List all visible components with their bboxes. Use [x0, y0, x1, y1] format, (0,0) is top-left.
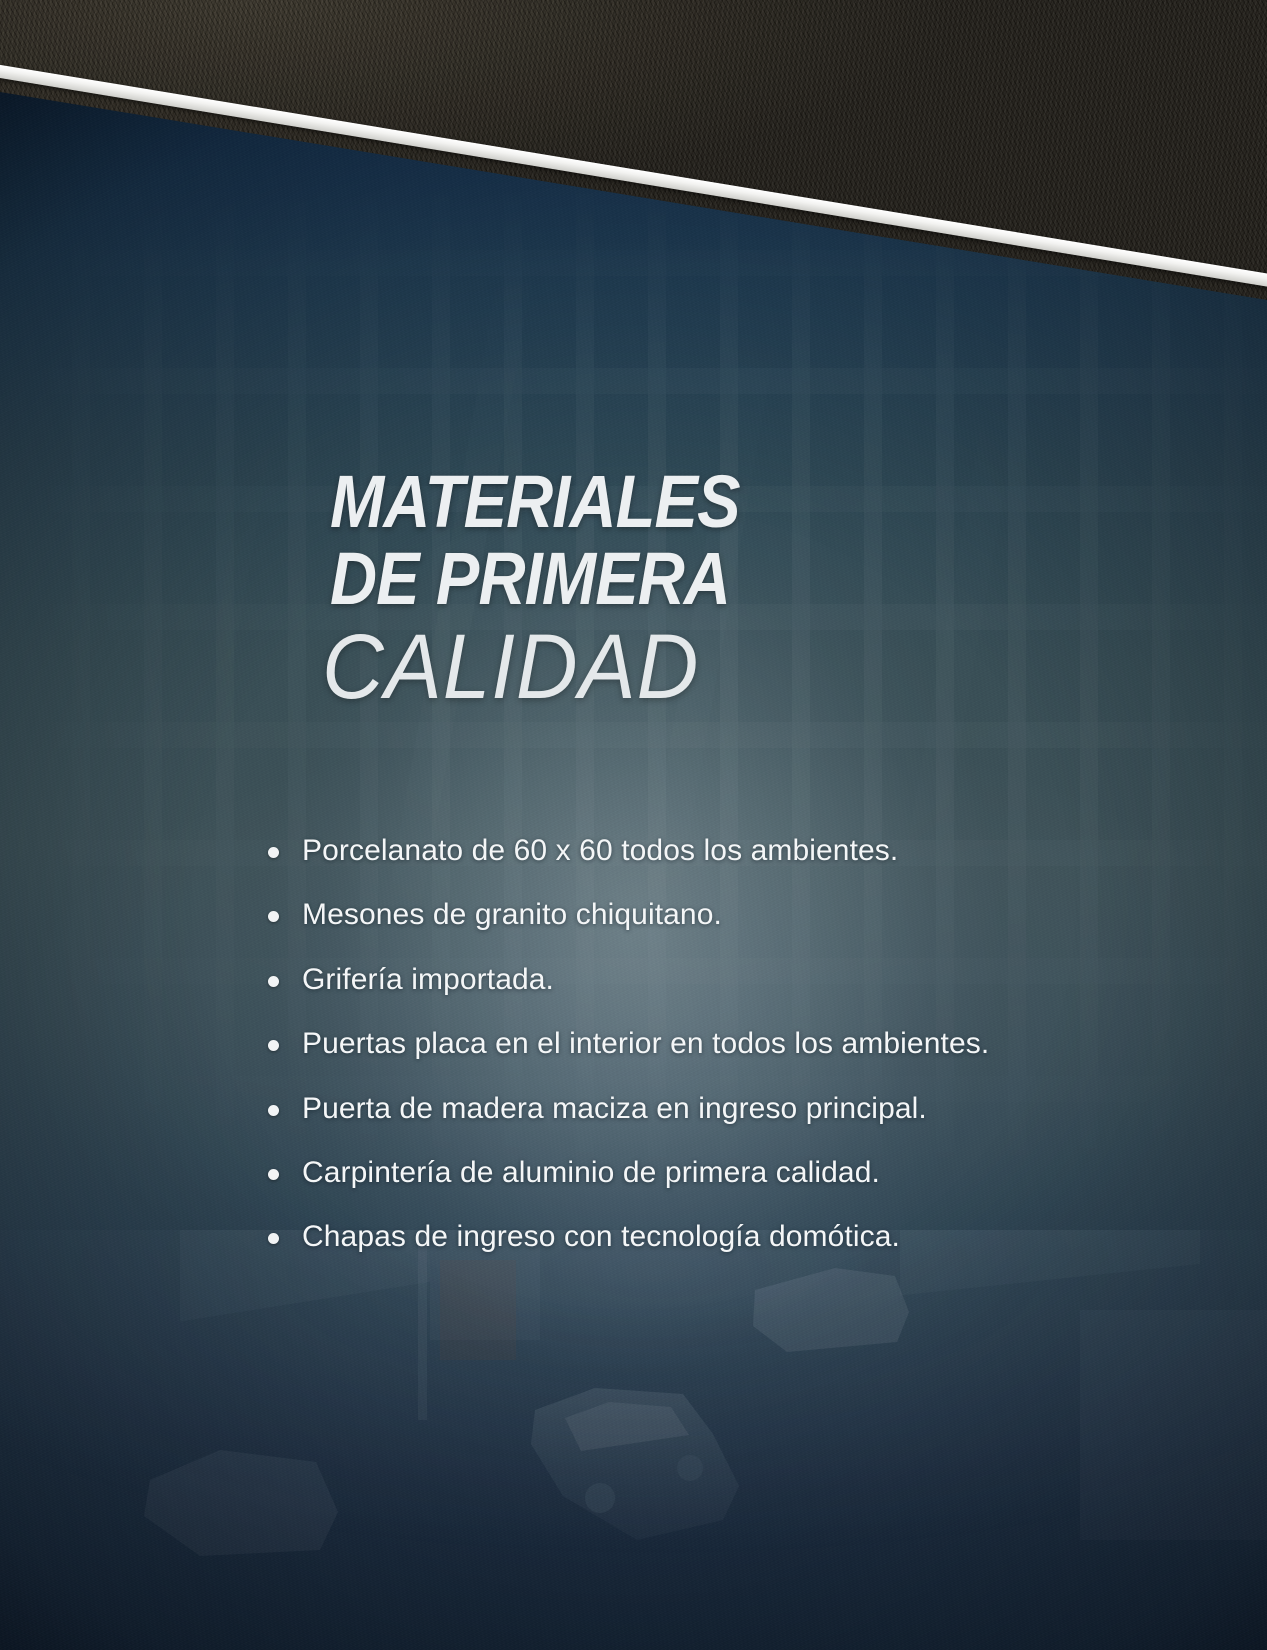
list-item-label: Chapas de ingreso con tecnología domótic…	[302, 1218, 900, 1256]
bullet-dot-icon	[268, 976, 279, 987]
list-item-label: Carpintería de aluminio de primera calid…	[302, 1154, 880, 1192]
list-item: Chapas de ingreso con tecnología domótic…	[268, 1218, 1168, 1256]
bullet-dot-icon	[268, 1105, 279, 1116]
list-item-label: Puerta de madera maciza en ingreso princ…	[302, 1090, 927, 1128]
list-item: Grifería importada.	[268, 961, 1168, 999]
list-item: Mesones de granito chiquitano.	[268, 896, 1168, 934]
bullet-dot-icon	[268, 1040, 279, 1051]
title-line-2: DE PRIMERA	[330, 543, 999, 616]
list-item: Puertas placa en el interior en todos lo…	[268, 1025, 1168, 1063]
bullet-dot-icon	[268, 1233, 279, 1244]
list-item: Carpintería de aluminio de primera calid…	[268, 1154, 1168, 1192]
features-list: Porcelanato de 60 x 60 todos los ambient…	[268, 832, 1168, 1283]
bullet-dot-icon	[268, 1169, 279, 1180]
bullet-dot-icon	[268, 847, 279, 858]
page-title: MATERIALES DE PRIMERA CALIDAD	[330, 466, 1090, 713]
slide-content: MATERIALES DE PRIMERA CALIDAD Porcelanat…	[0, 0, 1267, 1650]
list-item-label: Porcelanato de 60 x 60 todos los ambient…	[302, 832, 898, 870]
bullet-dot-icon	[268, 911, 279, 922]
list-item: Puerta de madera maciza en ingreso princ…	[268, 1090, 1168, 1128]
title-line-1: MATERIALES	[330, 466, 999, 539]
slide-stage: MATERIALES DE PRIMERA CALIDAD Porcelanat…	[0, 0, 1267, 1650]
list-item-label: Grifería importada.	[302, 961, 554, 999]
title-line-3: CALIDAD	[322, 621, 1036, 713]
list-item: Porcelanato de 60 x 60 todos los ambient…	[268, 832, 1168, 870]
list-item-label: Puertas placa en el interior en todos lo…	[302, 1025, 989, 1063]
list-item-label: Mesones de granito chiquitano.	[302, 896, 722, 934]
